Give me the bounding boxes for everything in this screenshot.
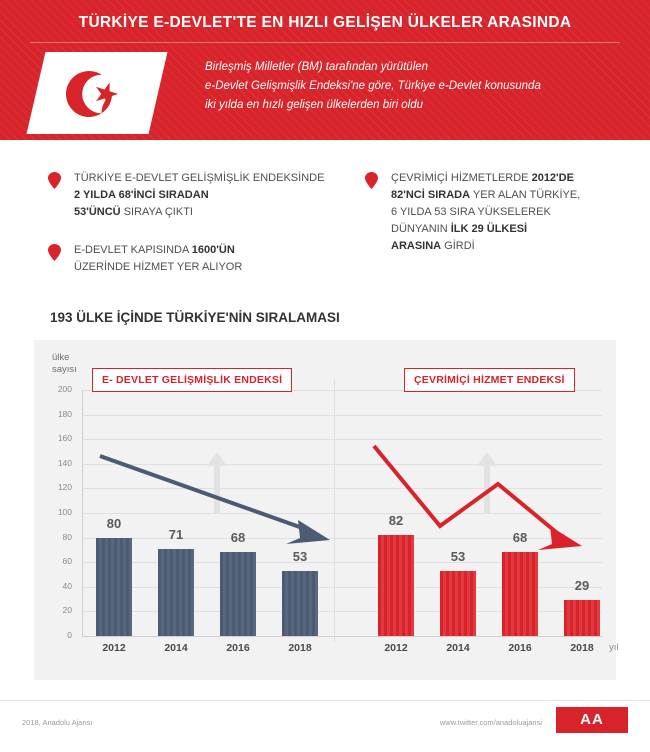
pin-icon [365, 172, 378, 189]
header-banner: TÜRKİYE E-DEVLET'TE EN HIZLI GELİŞEN ÜLK… [0, 0, 650, 140]
legend-online-service-index: ÇEVRİMİÇİ HİZMET ENDEKSİ [404, 368, 575, 392]
x-tick-label: 2014 [153, 642, 199, 654]
page-title: TÜRKİYE E-DEVLET'TE EN HIZLI GELİŞEN ÜLK… [0, 14, 650, 32]
y-tick-label: 100 [38, 507, 72, 517]
panel-divider [334, 380, 335, 642]
bullet-cevrimici-line-1-pre: ÇEVRİMİÇİ HİZMETLERDE [391, 172, 532, 184]
aa-logo: AA [556, 707, 628, 733]
chart-bar-fill [564, 600, 600, 636]
y-tick-label: 80 [38, 532, 72, 542]
bullet-endeks-line-3-rest: SIRAYA ÇIKTI [121, 206, 193, 218]
bar-value-label: 80 [90, 516, 138, 531]
bullet-cevrimici-line-4-pre: DÜNYANIN [391, 223, 451, 235]
y-axis-caption-line-1: ülke [52, 352, 77, 364]
x-axis-line [82, 636, 602, 637]
bullet-endeks-line-3-bold: 53'ÜNCÜ [74, 206, 121, 218]
bar-value-label: 29 [558, 578, 606, 593]
chart-bar [282, 571, 318, 636]
header-description: Birleşmiş Milletler (BM) tarafından yürü… [205, 58, 625, 115]
chart-bar [564, 600, 600, 636]
x-tick-label: 2012 [91, 642, 137, 654]
chart-panel: ülke sayısı E- DEVLET GELİŞMİŞLİK ENDEKS… [34, 340, 616, 680]
chart-bar [502, 552, 538, 636]
bar-value-label: 53 [276, 549, 324, 564]
bar-value-label: 68 [214, 530, 262, 545]
footer-credit: 2018, Anadolu Ajansı [22, 718, 92, 727]
y-axis-caption-line-2: sayısı [52, 364, 77, 376]
footer-twitter: www.twitter.com/anadoluajansi [440, 718, 542, 727]
y-axis-line [82, 390, 83, 637]
header-description-line-3: iki yılda en hızlı gelişen ülkelerden bi… [205, 96, 625, 115]
y-tick-label: 140 [38, 458, 72, 468]
chart-bar [440, 571, 476, 636]
bullet-kapisi-line-2: ÜZERİNDE HİZMET YER ALIYOR [74, 261, 242, 273]
chart-bar-fill [220, 552, 256, 636]
chart-bar-fill [378, 535, 414, 636]
chart-bar-fill [282, 571, 318, 636]
legend-egovernment-index: E- DEVLET GELİŞMİŞLİK ENDEKSİ [92, 368, 292, 392]
bullet-cevrimici-line-1-bold: 2012'DE [532, 172, 574, 184]
bullet-cevrimici-line-2-rest: YER ALAN TÜRKİYE, [470, 189, 580, 201]
chart-bar [220, 552, 256, 636]
bullet-cevrimici-line-4-bold: İLK 29 ÜLKESİ [451, 223, 527, 235]
header-description-line-1: Birleşmiş Milletler (BM) tarafından yürü… [205, 58, 625, 77]
chart-bar [96, 538, 132, 636]
bullet-kapisi-line-1-bold: 1600'ÜN [192, 244, 235, 256]
x-axis-label: yıl [609, 642, 619, 653]
bullet-list: TÜRKİYE E-DEVLET GELİŞMİŞLİK ENDEKSİNDE … [0, 160, 650, 280]
x-tick-label: 2012 [373, 642, 419, 654]
bullet-cevrimici-line-2-bold: 82'NCİ SIRADA [391, 189, 470, 201]
bullet-endeks: TÜRKİYE E-DEVLET GELİŞMİŞLİK ENDEKSİNDE … [48, 170, 338, 221]
x-tick-label: 2016 [215, 642, 261, 654]
x-tick-label: 2016 [497, 642, 543, 654]
chart-bar-fill [96, 538, 132, 636]
chart-bar [378, 535, 414, 636]
y-tick-label: 40 [38, 581, 72, 591]
pin-icon [48, 172, 61, 189]
header-description-line-2: e-Devlet Gelişmişlik Endeksi'ne göre, Tü… [205, 77, 625, 96]
footer-divider [0, 700, 650, 701]
x-tick-label: 2018 [277, 642, 323, 654]
bullet-cevrimici: ÇEVRİMİÇİ HİZMETLERDE 2012'DE 82'NCİ SIR… [365, 170, 630, 255]
y-tick-label: 120 [38, 482, 72, 492]
turkish-flag-crescent-star-icon [54, 58, 146, 130]
bullet-kapisi-line-1-pre: E-DEVLET KAPISINDA [74, 244, 192, 256]
bar-value-label: 53 [434, 549, 482, 564]
bar-value-label: 82 [372, 513, 420, 528]
y-tick-label: 0 [38, 630, 72, 640]
chart-bar-fill [158, 549, 194, 636]
y-tick-label: 160 [38, 433, 72, 443]
y-axis-caption: ülke sayısı [52, 352, 77, 376]
bullet-cevrimici-line-3: 6 YILDA 53 SIRA YÜKSELEREK [391, 206, 551, 218]
header-divider [30, 42, 620, 43]
bullet-cevrimici-line-5-rest: GİRDİ [441, 240, 475, 252]
bar-value-label: 68 [496, 530, 544, 545]
bar-value-label: 71 [152, 527, 200, 542]
chart-bar-fill [440, 571, 476, 636]
x-tick-label: 2018 [559, 642, 605, 654]
flag-badge [27, 52, 168, 134]
y-tick-label: 60 [38, 556, 72, 566]
bullet-kapisi: E-DEVLET KAPISINDA 1600'ÜN ÜZERİNDE HİZM… [48, 242, 338, 276]
bullet-endeks-line-1: TÜRKİYE E-DEVLET GELİŞMİŞLİK ENDEKSİNDE [74, 172, 324, 184]
y-tick-label: 20 [38, 605, 72, 615]
x-tick-label: 2014 [435, 642, 481, 654]
bullet-endeks-line-2: 2 YILDA 68'İNCİ SIRADAN [74, 189, 209, 201]
y-tick-label: 200 [38, 384, 72, 394]
bullet-cevrimici-line-5-bold: ARASINA [391, 240, 441, 252]
gridline [82, 415, 602, 416]
chart-bar-fill [502, 552, 538, 636]
y-tick-label: 180 [38, 409, 72, 419]
pin-icon [48, 244, 61, 261]
chart-bar [158, 549, 194, 636]
chart-section-title: 193 ÜLKE İÇİNDE TÜRKİYE'NİN SIRALAMASI [50, 310, 340, 325]
